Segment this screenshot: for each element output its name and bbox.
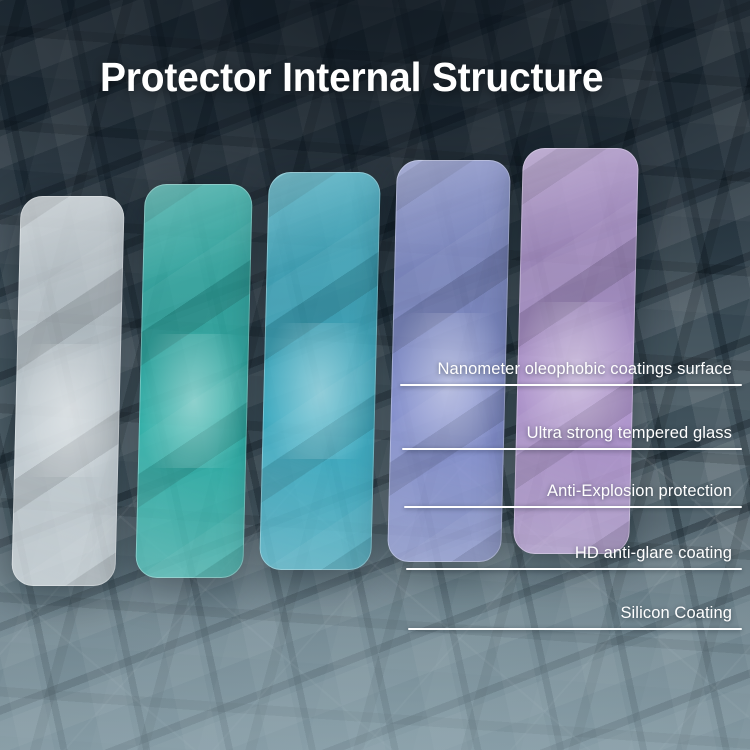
callout-leader-line — [408, 628, 742, 631]
callout-5: Silicon Coating — [408, 594, 742, 630]
callout-4: HD anti-glare coating — [406, 534, 742, 570]
callout-label-text: Ultra strong tempered glass — [527, 424, 732, 443]
callout-3: Anti-Explosion protection — [404, 472, 742, 508]
callout-1: Nanometer oleophobic coatings surface — [400, 350, 742, 386]
callout-label-text: HD anti-glare coating — [575, 544, 732, 563]
callout-label-text: Anti-Explosion protection — [547, 482, 732, 501]
callout-label-group: Nanometer oleophobic coatings surfaceUlt… — [0, 0, 750, 750]
callout-2: Ultra strong tempered glass — [402, 414, 742, 450]
callout-leader-line — [402, 448, 742, 451]
callout-leader-line — [406, 568, 742, 571]
callout-label-text: Nanometer oleophobic coatings surface — [438, 360, 732, 379]
product-infographic: Protector Internal Structure Nanometer o… — [0, 0, 750, 750]
callout-leader-line — [404, 506, 742, 509]
callout-leader-line — [400, 384, 742, 387]
callout-label-text: Silicon Coating — [620, 604, 732, 623]
